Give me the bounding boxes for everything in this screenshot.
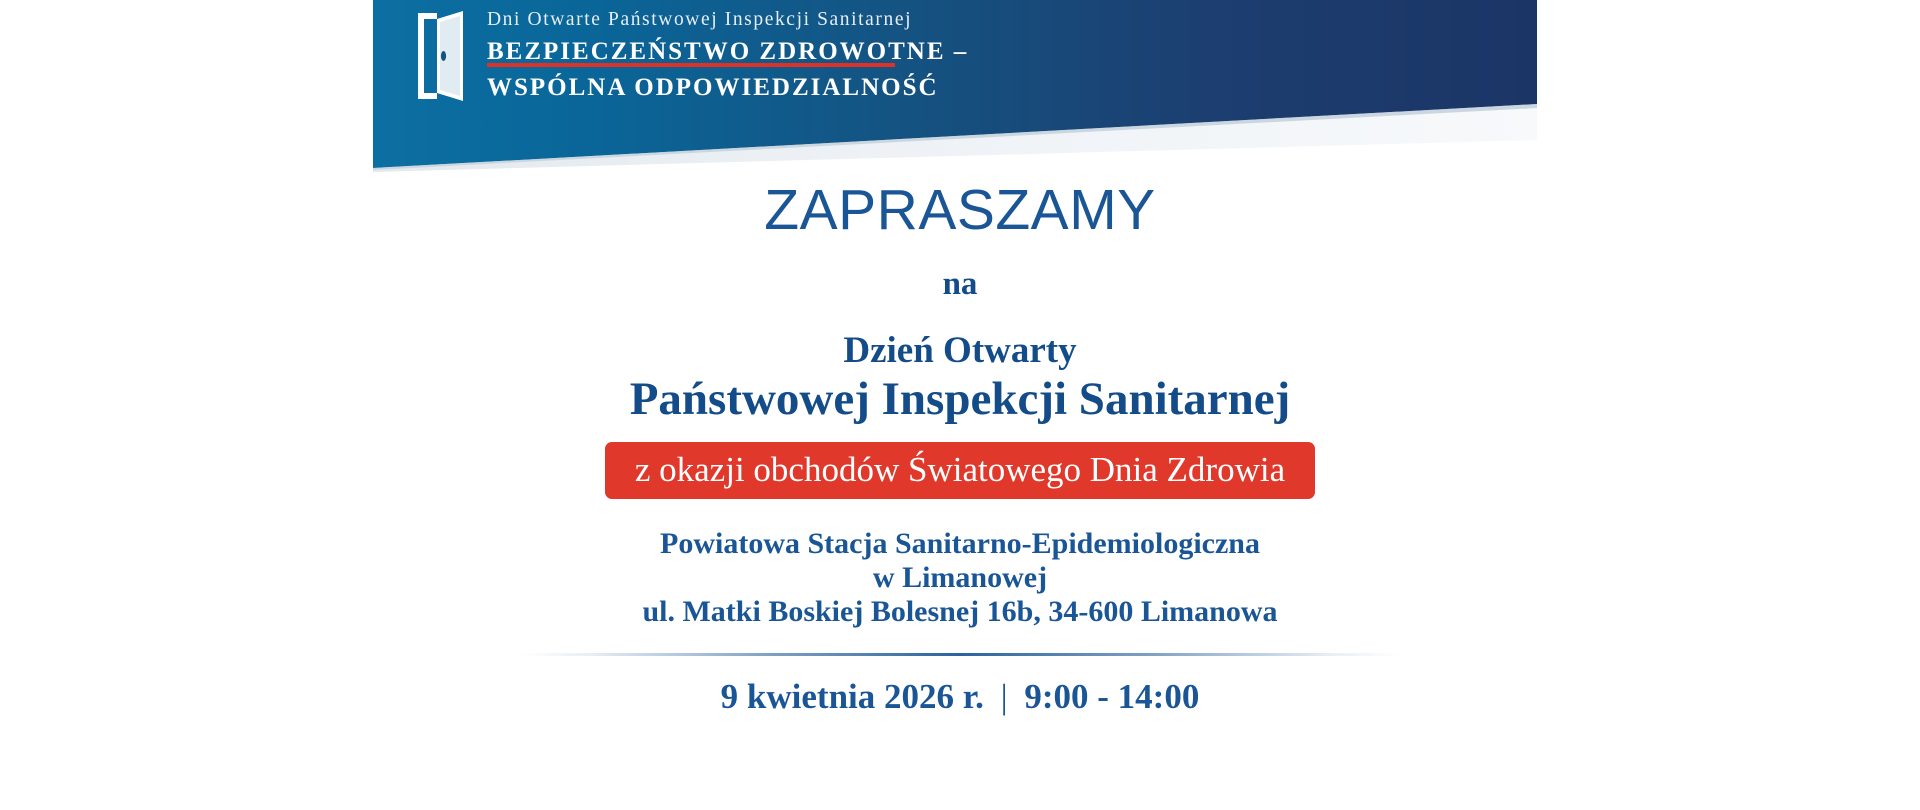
header-banner: Dni Otwarte Państwowej Inspekcji Sanitar…: [373, 0, 1537, 172]
poster-body: ZAPRASZAMY na Dzień Otwarty Państwowej I…: [0, 172, 1920, 717]
venue-street-address: ul. Matki Boskiej Bolesnej 16b, 34-600 L…: [0, 595, 1920, 629]
event-date: 9 kwietnia 2026 r.: [721, 677, 984, 716]
event-datetime: 9 kwietnia 2026 r. | 9:00 - 14:00: [0, 678, 1920, 717]
event-name-line-1: Dzień Otwarty: [0, 331, 1920, 371]
event-name-line-2: Państwowej Inspekcji Sanitarnej: [0, 373, 1920, 426]
datetime-separator: |: [993, 677, 1016, 716]
invitation-heading: ZAPRASZAMY: [0, 182, 1920, 239]
poster-canvas: Dni Otwarte Państwowej Inspekcji Sanitar…: [0, 0, 1920, 810]
invitation-connector: na: [0, 268, 1920, 301]
section-divider: [520, 653, 1400, 656]
venue-address-block: Powiatowa Stacja Sanitarno-Epidemiologic…: [0, 527, 1920, 630]
venue-city: w Limanowej: [0, 561, 1920, 595]
venue-institution-name: Powiatowa Stacja Sanitarno-Epidemiologic…: [0, 527, 1920, 561]
occasion-banner-wrapper: z okazji obchodów Światowego Dnia Zdrowi…: [0, 442, 1920, 499]
event-hours: 9:00 - 14:00: [1024, 677, 1199, 716]
header-shape: [373, 0, 1537, 172]
occasion-banner: z okazji obchodów Światowego Dnia Zdrowi…: [605, 442, 1315, 499]
